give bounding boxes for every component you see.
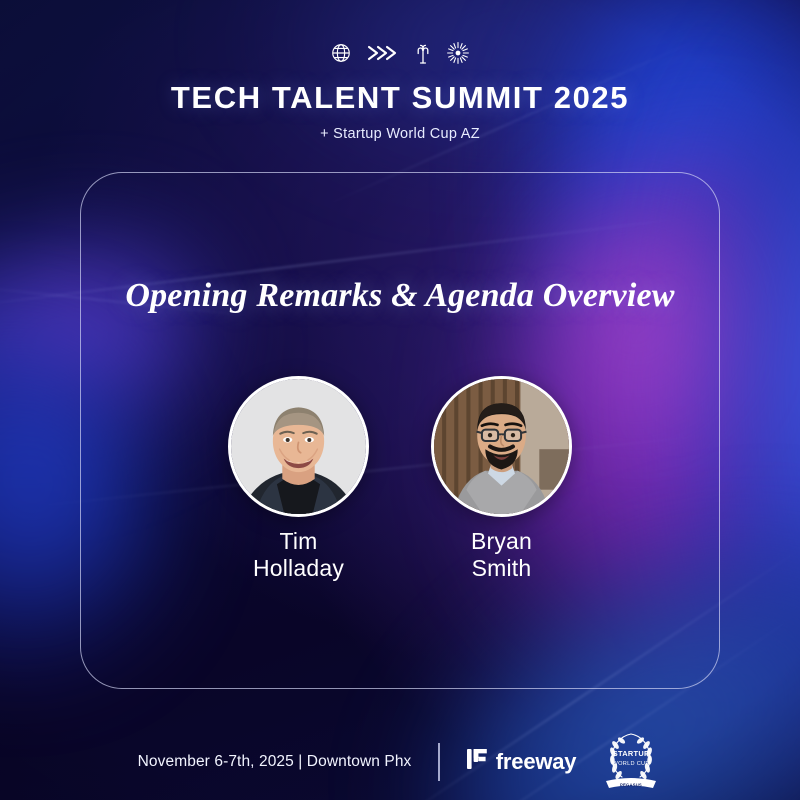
chevrons-right-icon	[366, 43, 400, 63]
session-title: Opening Remarks & Agenda Overview	[81, 277, 719, 315]
session-card: Opening Remarks & Agenda Overview	[80, 172, 720, 689]
avatar-photo-bryan-smith	[434, 379, 569, 514]
event-title: TECH TALENT SUMMIT 2025	[0, 82, 800, 113]
speaker-list: Tim Holladay	[81, 376, 719, 581]
cactus-icon	[414, 41, 432, 65]
badge-line2: WORLD CUP	[613, 761, 650, 767]
event-subtitle: + Startup World Cup AZ	[0, 126, 800, 142]
avatar	[228, 376, 369, 517]
badge-line1: STARTUP	[613, 749, 649, 758]
freeway-wordmark: freeway	[496, 749, 577, 775]
icon-row	[0, 36, 800, 70]
poster-canvas: TECH TALENT SUMMIT 2025 + Startup World …	[0, 0, 800, 800]
speaker-item: Bryan Smith	[424, 376, 579, 581]
freeway-logo: freeway	[467, 747, 577, 776]
footer: November 6-7th, 2025 | Downtown Phx free…	[0, 726, 800, 797]
footer-date-location: November 6-7th, 2025 | Downtown Phx	[138, 753, 412, 771]
speaker-name: Tim Holladay	[221, 528, 376, 581]
freeway-flag-icon	[467, 747, 488, 776]
avatar	[431, 376, 572, 517]
speaker-item: Tim Holladay	[221, 376, 376, 581]
badge-ribbon-label: PEGASUS	[620, 782, 642, 787]
startup-world-cup-badge: STARTUP WORLD CUP PEGASUS	[600, 726, 662, 797]
event-header: TECH TALENT SUMMIT 2025 + Startup World …	[0, 0, 800, 142]
avatar-photo-tim-holladay	[231, 379, 366, 514]
speaker-name: Bryan Smith	[424, 528, 579, 581]
sunburst-icon	[446, 41, 470, 65]
footer-divider	[438, 743, 439, 781]
globe-icon	[330, 42, 352, 64]
